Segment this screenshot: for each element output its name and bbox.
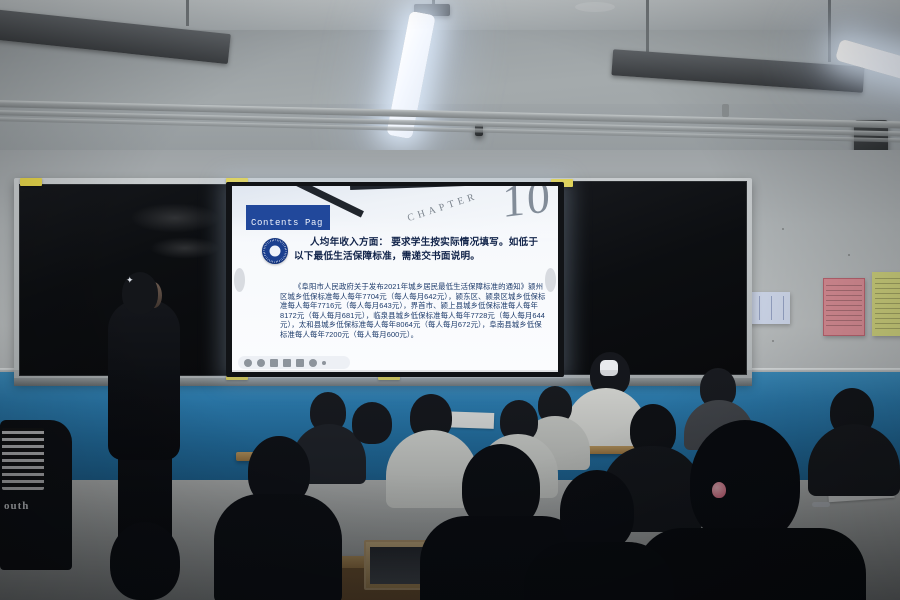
student-head	[352, 402, 392, 444]
fixture-rod-left	[186, 0, 189, 26]
pink-hair-accessory	[712, 482, 726, 498]
face-mask	[600, 360, 618, 376]
settings-icon[interactable]	[244, 359, 252, 367]
slide-heading: 人均年收入方面： 要求学生按实际情况填写。如低于以下最低生活保障标准，需递交书面…	[294, 236, 546, 264]
contents-page-tag: Contents Pag	[246, 205, 330, 230]
classroom-scene: 10 CHAPTER Contents Pag 人均年收入方面： 要求学生按实际…	[0, 0, 900, 600]
teacher-torso	[108, 300, 180, 460]
presentation-toolbar[interactable]	[238, 356, 350, 369]
student-torso	[214, 494, 342, 600]
contents-page-label: Contents Pag	[251, 218, 323, 228]
pen-icon[interactable]	[270, 359, 278, 367]
poster-red-notice	[823, 278, 865, 336]
more-icon[interactable]	[322, 361, 326, 365]
star-hair-clip-icon: ✦	[126, 276, 135, 285]
poster-text-lines	[826, 285, 861, 330]
wall-mark	[848, 254, 850, 256]
record-icon[interactable]	[257, 359, 265, 367]
eraser-icon[interactable]	[296, 359, 304, 367]
board-corner-tag	[20, 178, 42, 186]
jacket-graphic-print	[2, 428, 44, 490]
jacket-text-label: outh	[4, 500, 29, 512]
fixture-rod-far-right	[828, 0, 831, 62]
student-head	[110, 522, 180, 600]
blackboard-glare	[150, 237, 220, 259]
presentation-screen[interactable]: 10 CHAPTER Contents Pag 人均年收入方面： 要求学生按实际…	[232, 186, 558, 372]
ceiling-vent	[575, 2, 615, 12]
student-torso	[524, 542, 674, 600]
slide-prev-arrow[interactable]	[234, 268, 245, 292]
slide-next-arrow[interactable]	[545, 268, 556, 292]
wall-mark	[772, 340, 774, 342]
poster-yellow-notice	[872, 272, 900, 336]
conduit-clip	[722, 104, 729, 117]
student-head	[690, 420, 800, 544]
shape-icon[interactable]	[309, 359, 317, 367]
blackboard-glare	[130, 203, 220, 233]
hair-band	[812, 502, 830, 507]
cut-icon[interactable]	[283, 359, 291, 367]
slide-body-paragraph: 《阜阳市人民政府关于发布2021年城乡居民最低生活保障标准的通知》颍州区城乡低保…	[280, 282, 548, 340]
university-emblem-icon	[262, 238, 288, 264]
poster-text-lines	[875, 278, 900, 329]
blackboard-panel-right[interactable]	[561, 181, 747, 375]
poster-grid	[747, 296, 788, 320]
wall-mark	[782, 228, 784, 230]
emblem-inner-circle	[269, 245, 282, 258]
student-head	[560, 470, 634, 552]
